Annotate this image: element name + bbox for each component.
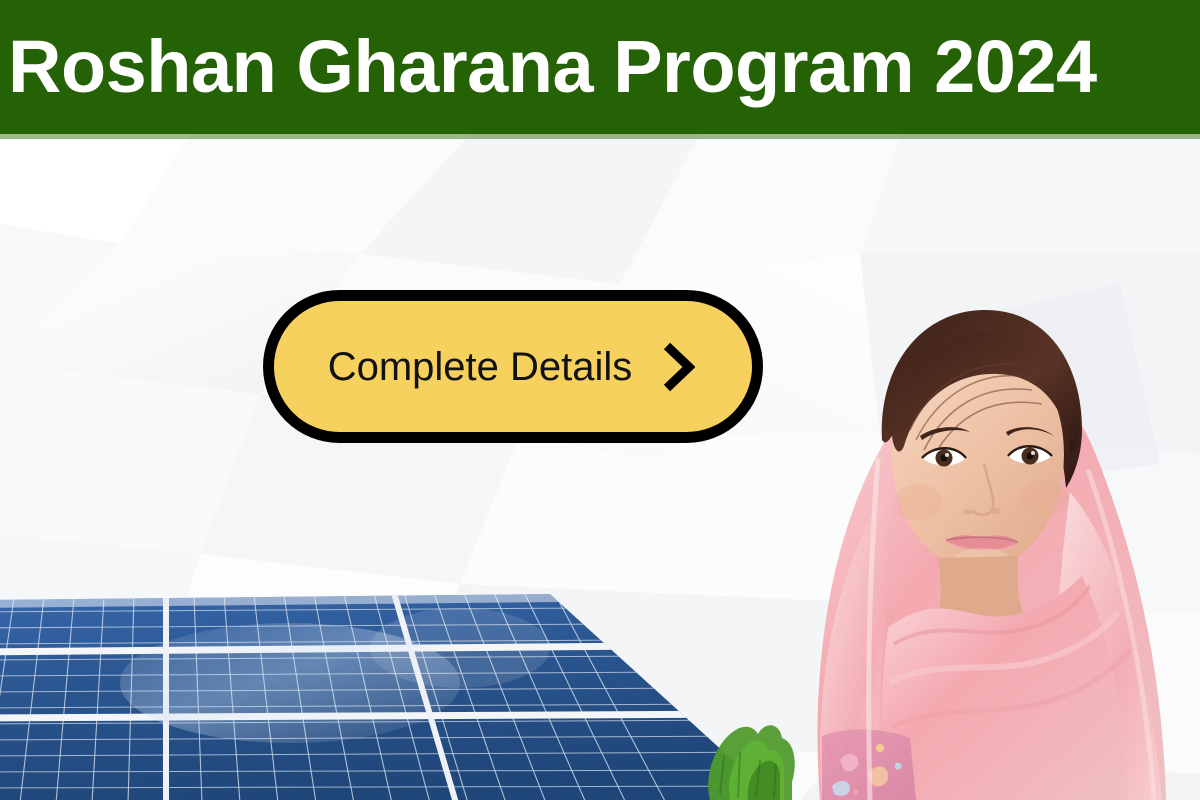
promo-banner: Complete Details Roshan Gharana Program … <box>0 0 1200 800</box>
header-bar: Roshan Gharana Program 2024 <box>0 0 1200 134</box>
woman-portrait <box>770 240 1200 800</box>
chevron-right-icon <box>658 341 698 393</box>
page-title: Roshan Gharana Program 2024 <box>0 30 1097 104</box>
complete-details-button[interactable]: Complete Details <box>263 290 763 443</box>
solar-panel-graphic <box>0 588 790 800</box>
solar-panel-array <box>0 588 790 800</box>
woman-portrait-graphic <box>770 240 1200 800</box>
complete-details-label: Complete Details <box>328 347 633 387</box>
